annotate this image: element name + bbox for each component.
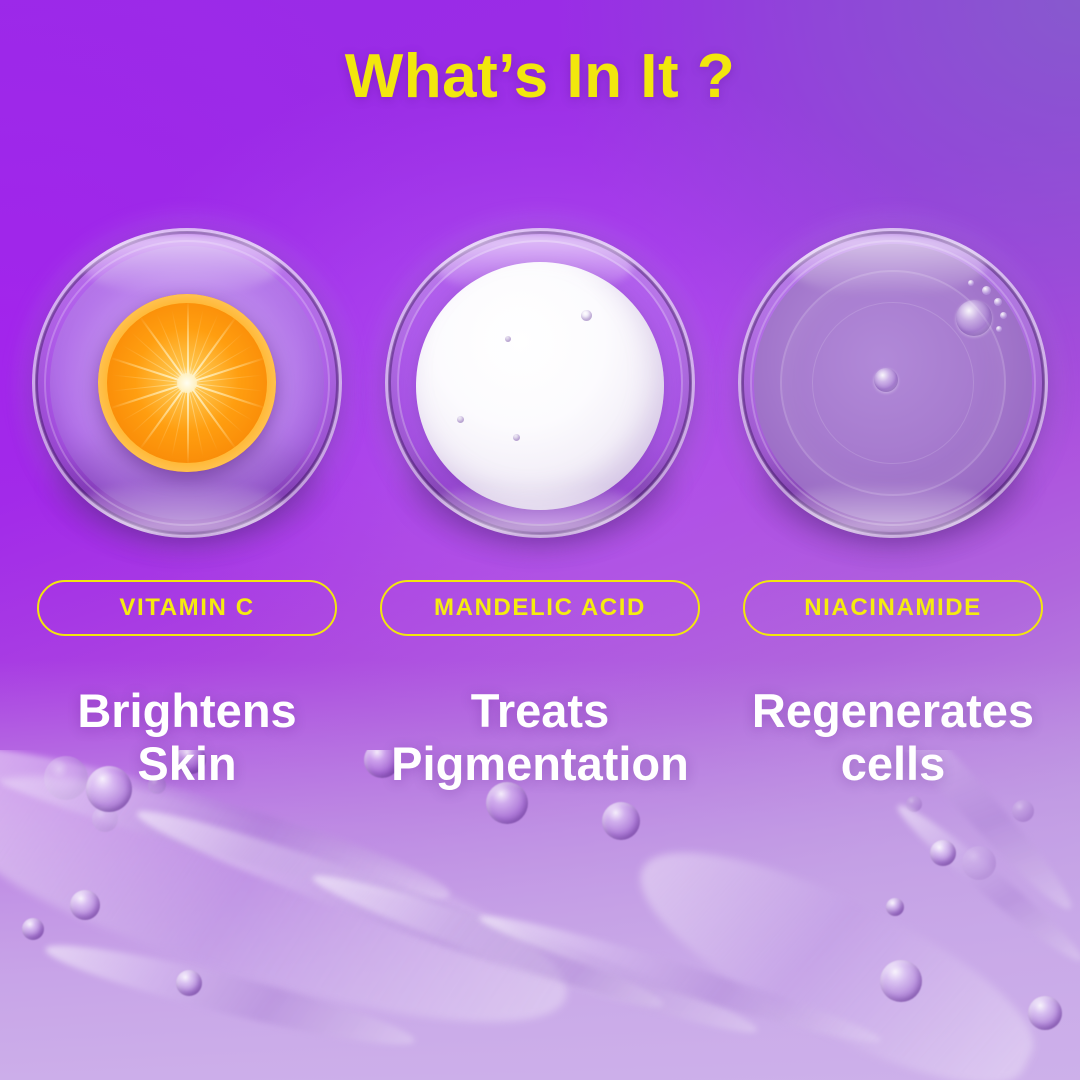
pill-label-vitamin-c[interactable]: VITAMIN C <box>37 580 337 636</box>
dish-glass <box>738 228 1048 538</box>
dish-highlight-top <box>788 234 986 296</box>
pill-label-mandelic-acid[interactable]: MANDELIC ACID <box>380 580 700 636</box>
pill-label-niacinamide[interactable]: NIACINAMIDE <box>743 580 1043 636</box>
dish-highlight-bottom <box>428 482 639 535</box>
benefit-text-vitamin-c: Brightens Skin <box>77 684 296 790</box>
petri-dish-vitamin-c <box>32 228 342 538</box>
dish-glass <box>385 228 695 538</box>
petri-dish-mandelic-acid <box>385 228 695 538</box>
benefit-text-niacinamide: Regenerates cells <box>752 684 1034 790</box>
dish-highlight-bottom <box>75 482 286 535</box>
ingredient-column-vitamin-c: VITAMIN C Brightens Skin <box>22 228 352 790</box>
dish-glass <box>32 228 342 538</box>
benefit-text-mandelic-acid: Treats Pigmentation <box>391 684 689 790</box>
ingredient-column-mandelic-acid: MANDELIC ACID Treats Pigmentation <box>375 228 705 790</box>
ingredient-columns: VITAMIN C Brightens Skin <box>0 228 1080 790</box>
ingredient-infographic: What’s In It ? <box>0 0 1080 1080</box>
ingredient-column-niacinamide: NIACINAMIDE Regenerates cells <box>728 228 1058 790</box>
dish-highlight-top <box>435 234 633 296</box>
dish-highlight-top <box>82 234 280 296</box>
page-title: What’s In It ? <box>0 44 1080 109</box>
petri-dish-niacinamide <box>738 228 1048 538</box>
dish-highlight-bottom <box>781 482 992 535</box>
